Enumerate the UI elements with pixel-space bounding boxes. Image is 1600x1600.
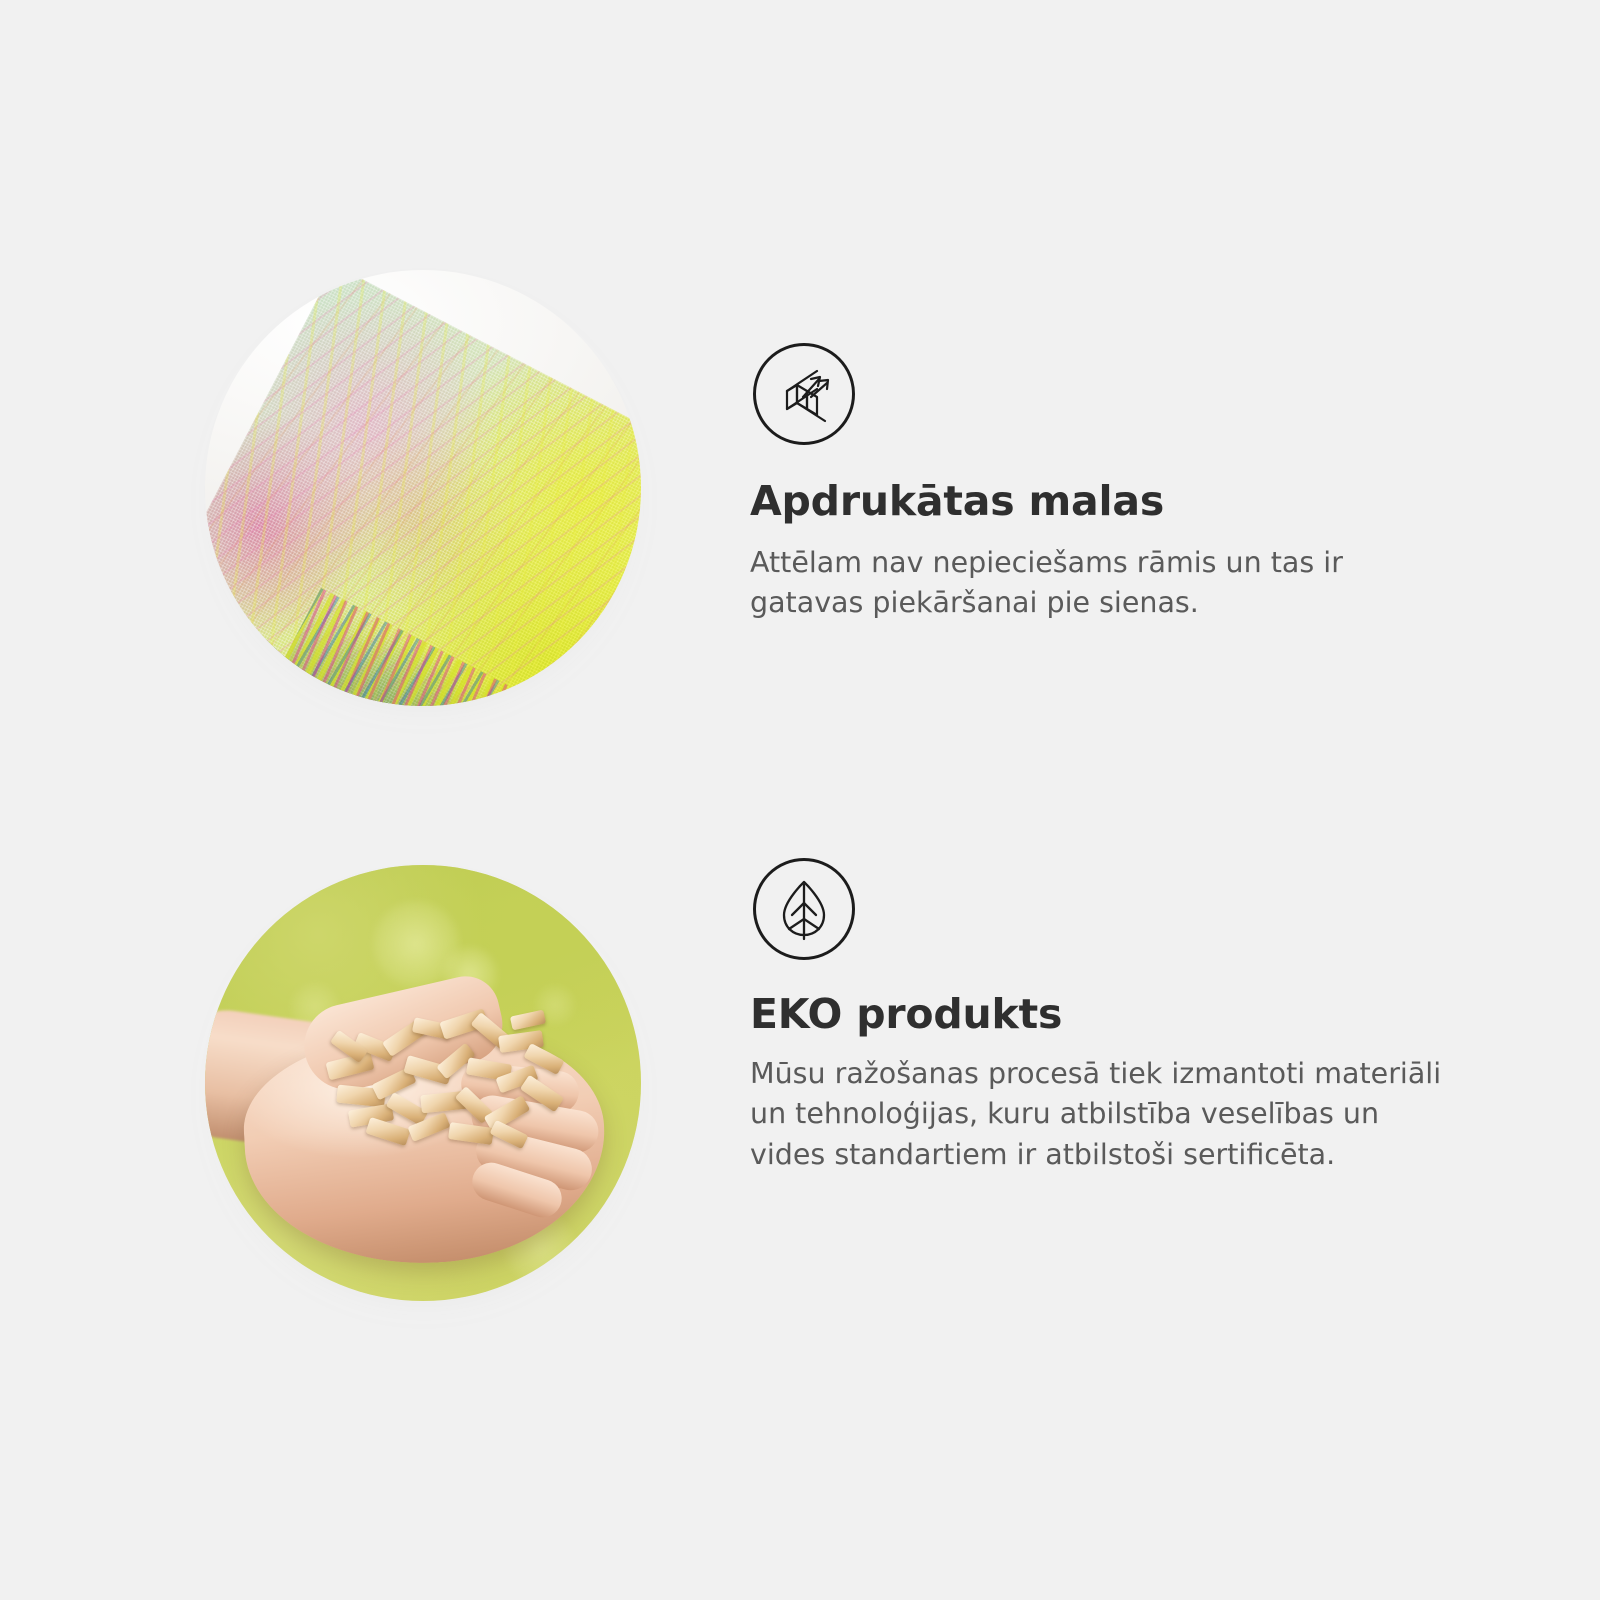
feature-description: Mūsu ražošanas procesā tiek izmantoti ma… [750,1054,1462,1175]
wood-chip [448,1122,494,1145]
feature-highlights-page: Apdrukātas malas Attēlam nav nepieciešam… [0,0,1600,1600]
photo-circle-mask [205,270,641,706]
wood-chip-pile [321,999,571,1149]
feature-block-printed-edges: Apdrukātas malas Attēlam nav nepieciešam… [0,260,1600,730]
wood-chips-in-hands-photo [205,865,641,1301]
feature-description: Attēlam nav nepieciešams rāmis un tas ir… [750,543,1440,624]
page-title: Apdrukātas malas [750,477,1490,525]
feature-block-eco-product: EKO produkts Mūsu ražošanas procesā tiek… [0,855,1600,1325]
canvas-corner-image [205,270,641,706]
feature-text-column: Apdrukātas malas Attēlam nav nepieciešam… [750,260,1490,624]
feature-text-column: EKO produkts Mūsu ražošanas procesā tiek… [750,855,1490,1175]
wood-chips-image [205,865,641,1301]
photo-circle-mask [205,865,641,1301]
page-title: EKO produkts [750,990,1490,1038]
canvas-corner-photo [205,270,641,706]
wood-chip [490,1120,529,1149]
leaf-icon [753,858,855,960]
wood-chip [365,1117,410,1146]
printed-edges-icon [753,343,855,445]
wood-chip [510,1010,546,1031]
